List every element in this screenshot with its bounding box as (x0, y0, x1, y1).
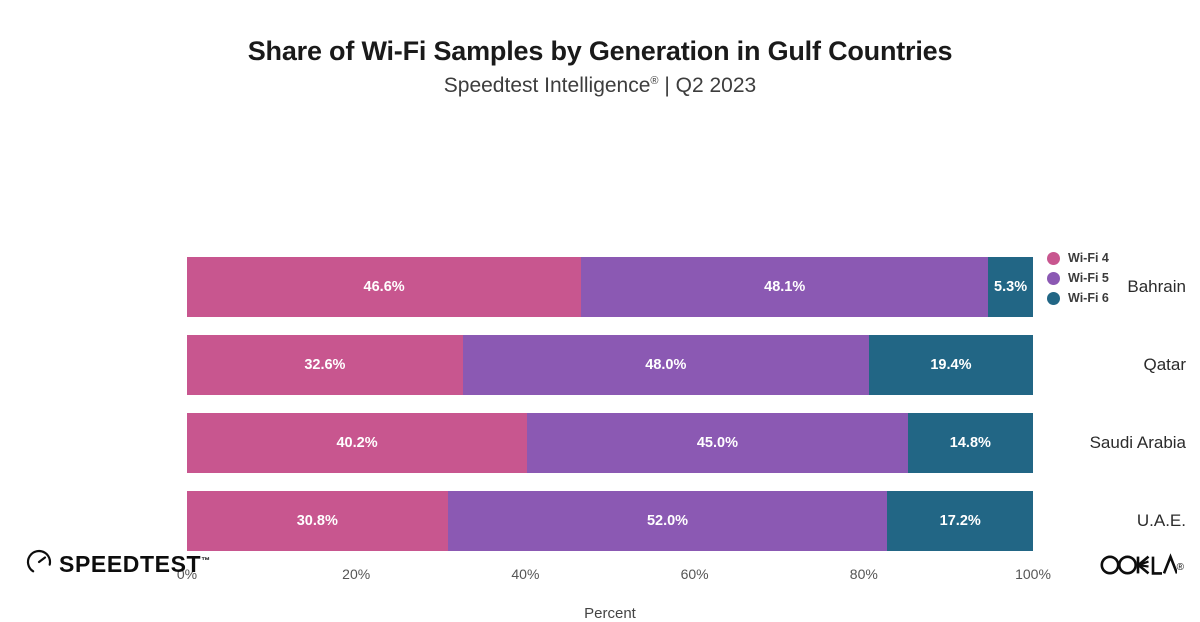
bar-row-saudi-arabia: 40.2% 45.0% 14.8% (187, 413, 1033, 473)
bar-segment-wifi4: 32.6% (187, 335, 463, 395)
registered-trademark-symbol: ® (650, 75, 658, 87)
ookla-logo: ® (1099, 552, 1184, 583)
bar-segment-wifi6: 5.3% (988, 257, 1033, 317)
footer: SPEEDTEST™ ® (0, 535, 1200, 605)
speedtest-label: SPEEDTEST (59, 551, 201, 577)
legend-item-wifi5[interactable]: Wi-Fi 5 (1047, 269, 1109, 287)
bar-segment-wifi6: 14.8% (908, 413, 1033, 473)
speedtest-logo: SPEEDTEST™ (26, 549, 211, 580)
speedometer-icon (26, 549, 52, 580)
trademark-symbol: ™ (201, 555, 211, 565)
bar-row-bahrain: 46.6% 48.1% 5.3% (187, 257, 1033, 317)
legend-item-wifi6[interactable]: Wi-Fi 6 (1047, 289, 1109, 307)
chart-subtitle-source: Speedtest Intelligence (444, 74, 651, 97)
bar-segment-wifi5: 45.0% (527, 413, 908, 473)
chart-legend: Wi-Fi 4 Wi-Fi 5 Wi-Fi 6 (1047, 249, 1109, 309)
chart-subtitle: Speedtest Intelligence® | Q2 2023 (0, 73, 1200, 98)
circle-icon (1047, 272, 1060, 285)
x-axis-title: Percent (187, 605, 1033, 622)
ookla-logo-icon (1099, 552, 1177, 583)
circle-icon (1047, 292, 1060, 305)
ookla-trademark-symbol: ® (1177, 562, 1184, 573)
chart-plot-region: Bahrain Qatar Saudi Arabia U.A.E. 46.6% … (0, 98, 1200, 498)
bar-segment-wifi6: 19.4% (869, 335, 1033, 395)
circle-icon (1047, 252, 1060, 265)
chart-header: Share of Wi-Fi Samples by Generation in … (0, 0, 1200, 98)
bar-segment-wifi4: 46.6% (187, 257, 581, 317)
legend-label: Wi-Fi 4 (1068, 251, 1109, 265)
bar-segment-wifi4: 40.2% (187, 413, 527, 473)
legend-item-wifi4[interactable]: Wi-Fi 4 (1047, 249, 1109, 267)
legend-label: Wi-Fi 6 (1068, 291, 1109, 305)
legend-label: Wi-Fi 5 (1068, 271, 1109, 285)
bar-segment-wifi5: 48.1% (581, 257, 988, 317)
page-title: Share of Wi-Fi Samples by Generation in … (0, 36, 1200, 67)
bar-segment-wifi5: 48.0% (463, 335, 869, 395)
bar-row-qatar: 32.6% 48.0% 19.4% (187, 335, 1033, 395)
speedtest-wordmark: SPEEDTEST™ (59, 551, 211, 578)
chart-subtitle-period: | Q2 2023 (659, 74, 757, 97)
bars-container: 46.6% 48.1% 5.3% 32.6% 48.0% 19.4% 40.2%… (187, 251, 1033, 563)
